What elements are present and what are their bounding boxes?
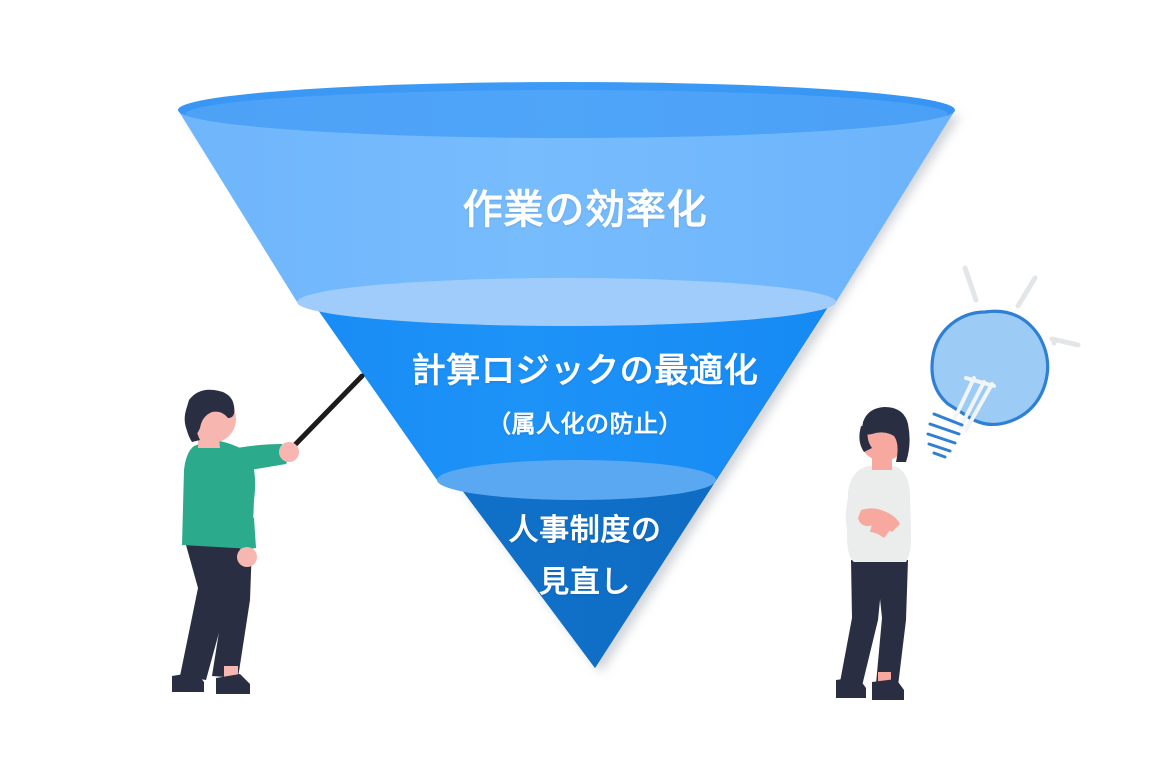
diagram-canvas: 作業の効率化 計算ロジックの最適化 （属人化の防止） 人事制度の 見直し bbox=[0, 0, 1170, 780]
lightbulb-ray-top-icon bbox=[1018, 278, 1035, 306]
lightbulb-ray-left-icon bbox=[965, 268, 976, 300]
lightbulb-icon bbox=[0, 0, 1170, 780]
lightbulb-glass bbox=[932, 311, 1048, 424]
